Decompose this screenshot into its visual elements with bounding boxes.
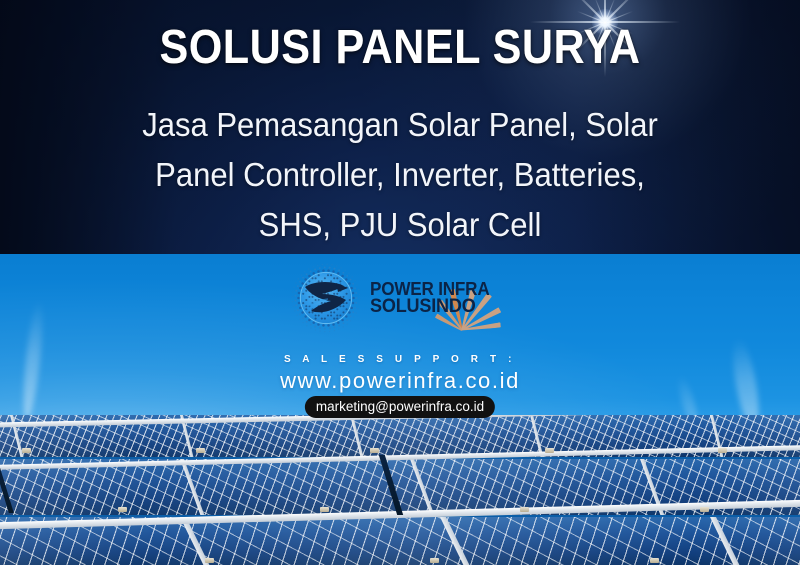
logo-line-2: SOLUSINDO (370, 298, 490, 315)
poster-title: SOLUSI PANEL SURYA (40, 22, 760, 74)
panel-mount-clamp (320, 507, 329, 512)
subtitle-line-1: Jasa Pemasangan Solar Panel, Solar (80, 100, 719, 150)
sales-support-label: S A L E S S U P P O R T : (0, 354, 800, 365)
panel-mount-clamp (545, 448, 554, 453)
panel-mount-clamp (520, 507, 529, 512)
panel-mount-clamp (22, 448, 31, 453)
website-url[interactable]: www.powerinfra.co.id (0, 368, 800, 394)
panel-mount-clamp (718, 448, 727, 453)
panel-mount-clamp (370, 448, 379, 453)
panel-mount-clamp (700, 507, 709, 512)
company-logo: POWER INFRA SOLUSINDO (291, 263, 496, 333)
panel-mount-clamp (196, 448, 205, 453)
subtitle-line-3: SHS, PJU Solar Cell (80, 200, 719, 250)
panel-mount-clamp (118, 507, 127, 512)
panel-mount-clamp (430, 558, 439, 563)
panel-mount-clamp (205, 558, 214, 563)
globe-halftone-icon (291, 263, 361, 333)
panel-mount-clamp (650, 558, 659, 563)
poster-canvas: SOLUSI PANEL SURYA Jasa Pemasangan Solar… (0, 0, 800, 565)
subtitle-line-2: Panel Controller, Inverter, Batteries, (80, 150, 719, 200)
solar-panel-array-icon (0, 415, 800, 565)
header-banner: SOLUSI PANEL SURYA Jasa Pemasangan Solar… (0, 0, 800, 254)
poster-subtitle: Jasa Pemasangan Solar Panel, Solar Panel… (80, 100, 719, 250)
logo-wordmark: POWER INFRA SOLUSINDO (370, 281, 490, 315)
email-badge[interactable]: marketing@powerinfra.co.id (305, 396, 495, 418)
